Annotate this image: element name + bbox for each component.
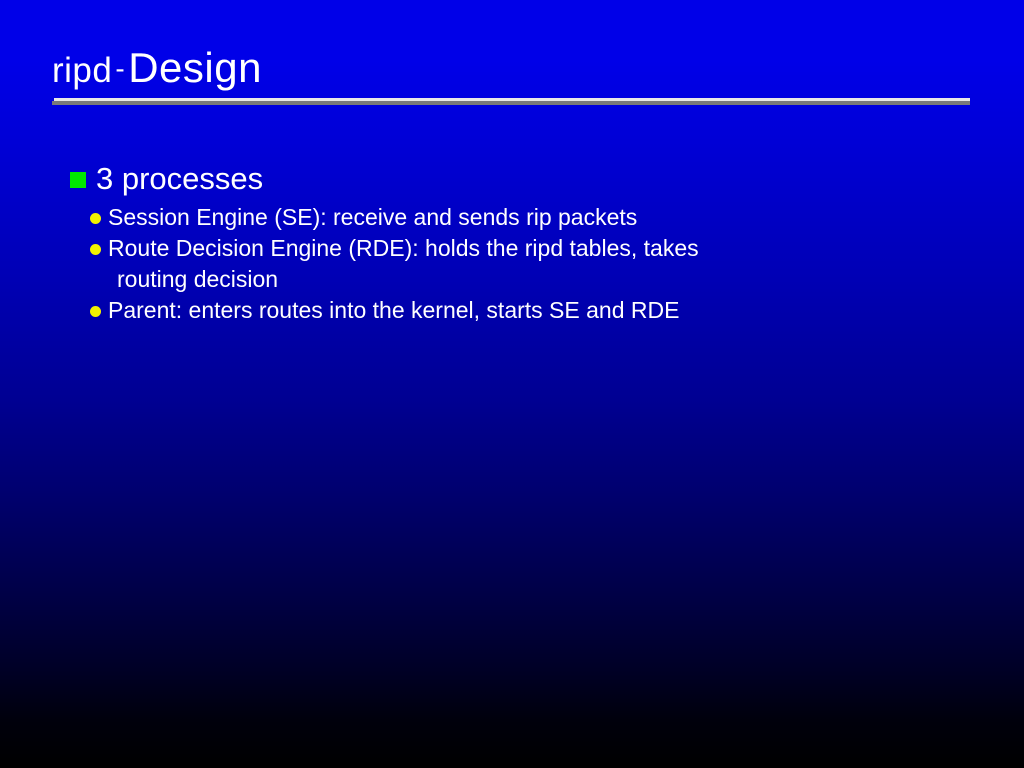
list-item-label-line1: Route Decision Engine (RDE): holds the r… xyxy=(108,235,699,261)
slide-body: 3 processes Session Engine (SE): receive… xyxy=(70,160,970,326)
dot-bullet-icon xyxy=(90,306,101,317)
dot-bullet-icon xyxy=(90,213,101,224)
page-title: ripd-Design xyxy=(52,44,972,97)
list-item: 3 processes xyxy=(70,160,970,198)
list-item: Session Engine (SE): receive and sends r… xyxy=(90,202,970,233)
list-item-label: 3 processes xyxy=(96,160,263,198)
square-bullet-icon xyxy=(70,172,86,188)
title-divider xyxy=(52,98,970,105)
page-title-word-secondary: Design xyxy=(128,44,262,91)
page-title-word-primary: ripd xyxy=(52,51,112,90)
page-title-separator: - xyxy=(112,53,128,84)
list-item: Route Decision Engine (RDE): holds the r… xyxy=(90,233,970,295)
slide-title-block: ripd-Design xyxy=(52,44,972,97)
list-item-label: Parent: enters routes into the kernel, s… xyxy=(108,295,679,326)
dot-bullet-icon xyxy=(90,244,101,255)
presentation-slide: ripd-Design 3 processes Session Engine (… xyxy=(0,0,1024,768)
title-divider-shadow xyxy=(52,101,970,105)
list-item-label: Route Decision Engine (RDE): holds the r… xyxy=(108,233,699,295)
list-item: Parent: enters routes into the kernel, s… xyxy=(90,295,970,326)
list-item-label-line2: routing decision xyxy=(108,264,699,295)
list-item-label: Session Engine (SE): receive and sends r… xyxy=(108,202,637,233)
